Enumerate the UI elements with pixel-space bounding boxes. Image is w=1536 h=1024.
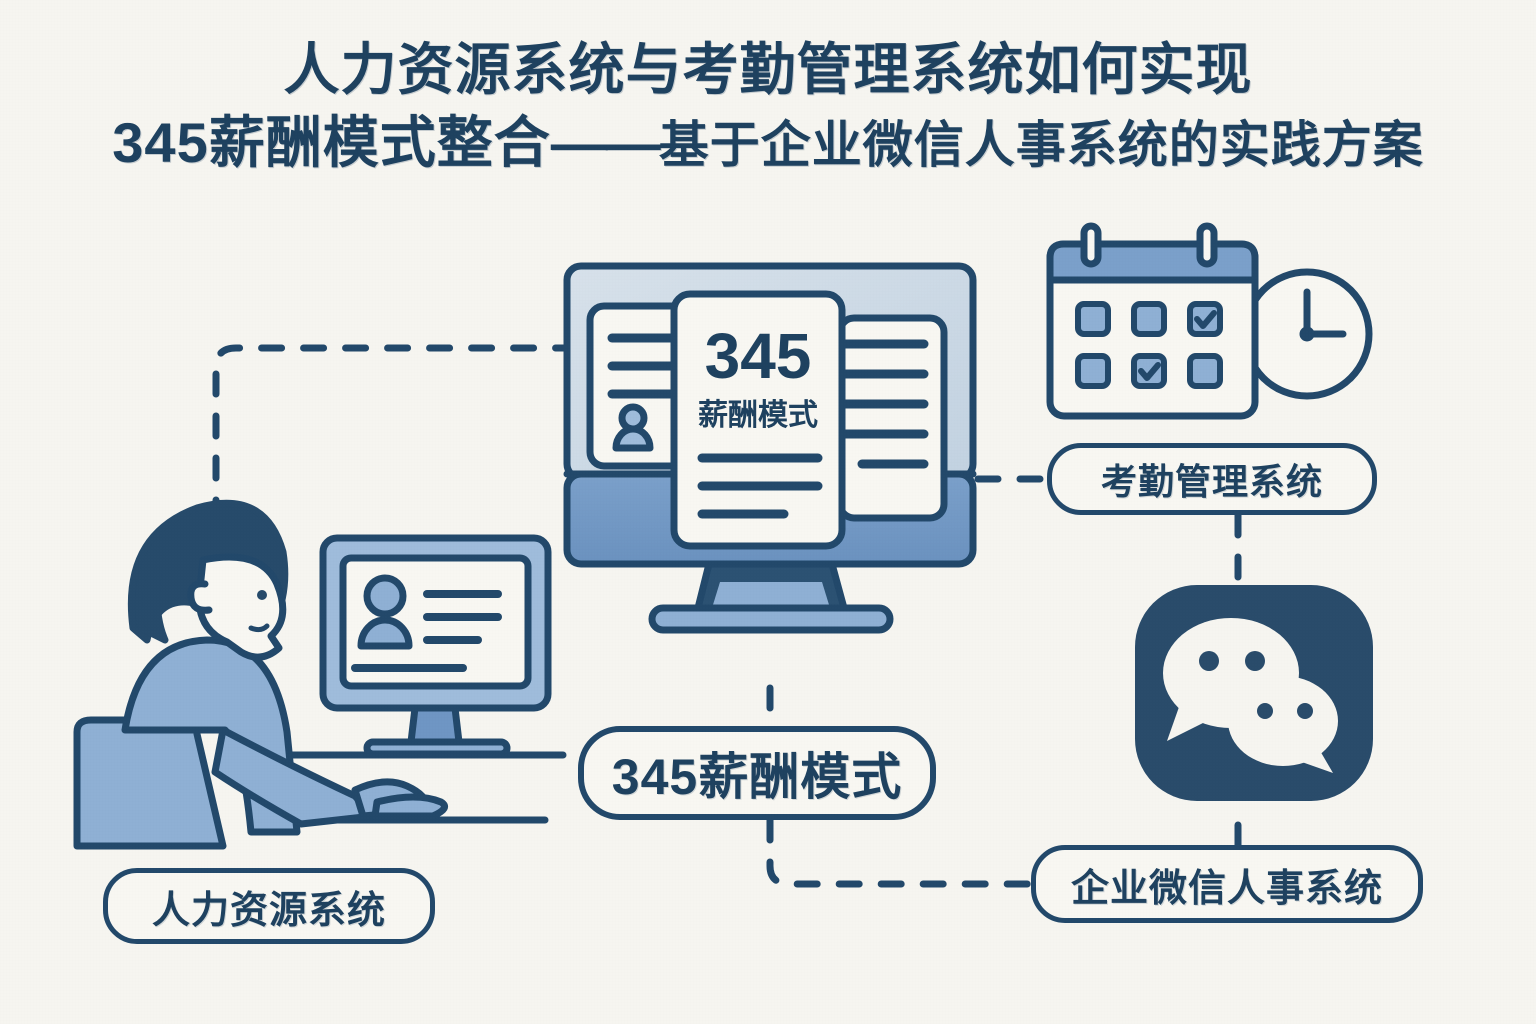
chair-back — [77, 720, 223, 846]
calendar-cell — [1078, 304, 1108, 334]
wecom-bubble-large-eye — [1199, 651, 1219, 671]
monitor-stand-neck-inner — [712, 582, 830, 608]
computer-mouse — [375, 797, 445, 816]
calendar-ring-right — [1200, 226, 1214, 264]
title-subtitle-phrase: 基于企业微信人事系统的实践方案 — [659, 117, 1424, 173]
person-arm — [215, 730, 373, 824]
calendar-ring-left — [1084, 226, 1098, 264]
title-block: 人力资源系统与考勤管理系统如何实现 345薪酬模式整合——基于企业微信人事系统的… — [0, 34, 1536, 180]
connector-pay-model-to-wecom-hr — [770, 820, 1031, 884]
title-line-2: 345薪酬模式整合——基于企业微信人事系统的实践方案 — [0, 107, 1536, 180]
infographic-canvas: 人力资源系统与考勤管理系统如何实现 345薪酬模式整合——基于企业微信人事系统的… — [0, 0, 1536, 1024]
label-wecom-hr-system[interactable]: 企业微信人事系统 — [1031, 845, 1423, 923]
title-line-1: 人力资源系统与考勤管理系统如何实现 — [0, 34, 1536, 107]
calendar-and-clock-group — [1030, 222, 1410, 427]
hr-staff-scene — [55, 480, 575, 870]
central-monitor: 345 薪酬模式 — [562, 262, 978, 682]
wecom-bubble-small-eye — [1297, 703, 1313, 719]
label-hr-system[interactable]: 人力资源系统 — [103, 868, 435, 944]
pay-model-caption: 薪酬模式 — [698, 399, 818, 432]
person-eye — [257, 590, 267, 600]
desk-monitor-stand — [411, 708, 459, 742]
wecom-bubble-small-eye — [1257, 703, 1273, 719]
wecom-bubble-large-eye — [1245, 651, 1265, 671]
calendar-cell — [1190, 356, 1220, 386]
title-em-dash: —— — [551, 111, 659, 174]
clock-center-dot — [1303, 330, 1311, 338]
calendar-cell — [1134, 304, 1164, 334]
title-main-phrase: 345薪酬模式整合 — [112, 111, 550, 174]
label-pay-model[interactable]: 345薪酬模式 — [578, 726, 936, 820]
monitor-stand-base — [652, 608, 890, 630]
label-attendance-system[interactable]: 考勤管理系统 — [1047, 443, 1377, 515]
pay-model-number: 345 — [705, 320, 812, 392]
wecom-app-icon — [1133, 583, 1375, 825]
calendar-cell — [1078, 356, 1108, 386]
